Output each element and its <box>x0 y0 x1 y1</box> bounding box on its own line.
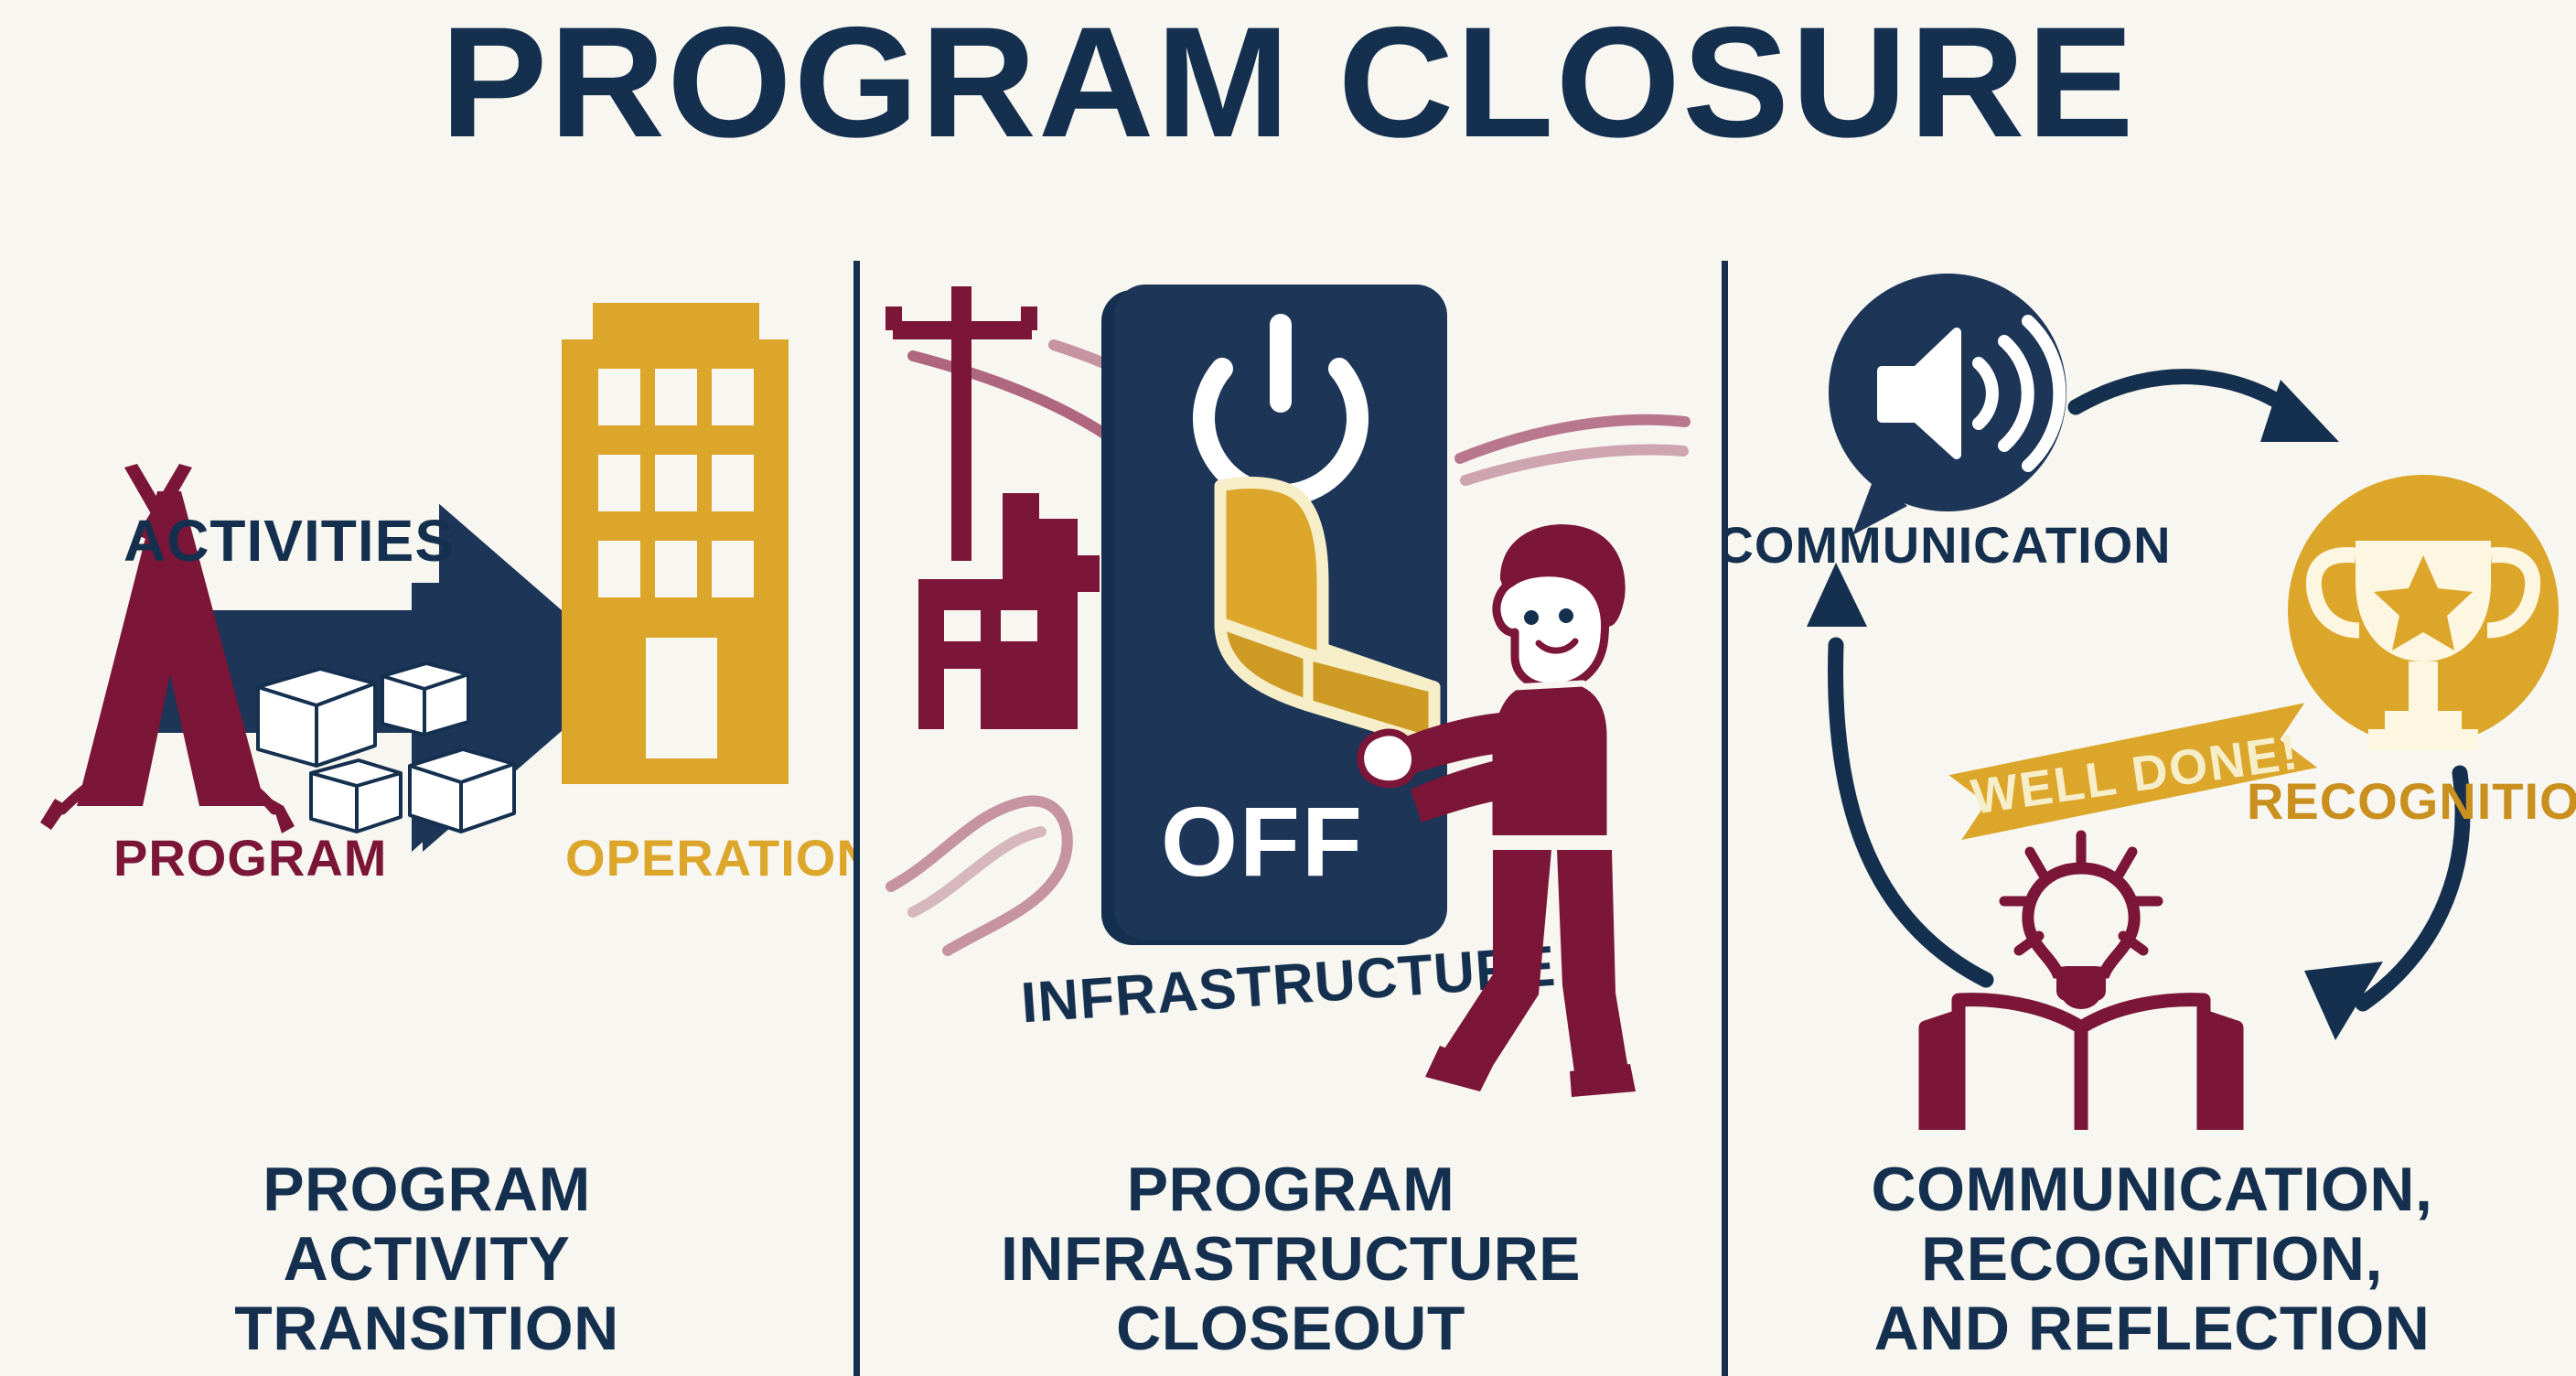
speaker-bubble-icon <box>1829 274 2066 535</box>
transition-diagram-art: ACTIVITIES PROGRAM OPERATIONS <box>0 261 853 1130</box>
panel-program-infrastructure-closeout: OFF INFRASTRUCTURE <box>860 261 1722 1376</box>
panel-communication-recognition-reflection: COMMUNICATION <box>1728 261 2576 1376</box>
panel-1-caption-line-3: TRANSITION <box>0 1294 853 1363</box>
switch-state-label: OFF <box>1161 786 1364 897</box>
arrow-communication-to-recognition <box>2076 377 2339 442</box>
trophy-icon <box>2288 475 2559 751</box>
open-book-icon <box>1926 1000 2237 1130</box>
panel-1-caption-line-1: PROGRAM <box>0 1155 853 1224</box>
panel-1-caption-line-2: ACTIVITY <box>0 1224 853 1294</box>
factory-icon <box>918 493 1100 729</box>
panel-program-activity-transition: ACTIVITIES PROGRAM OPERATIONS PROGRAM AC… <box>0 261 853 1376</box>
building-label: OPERATIONS <box>565 829 853 887</box>
reflection-node: REFLECTION <box>1913 835 2249 1130</box>
infographic-poster: PROGRAM CLOSURE <box>0 0 2576 1376</box>
panel-3-caption-line-3: AND REFLECTION <box>1728 1294 2576 1363</box>
recognition-label: RECOGNITION <box>2247 772 2576 830</box>
page-title: PROGRAM CLOSURE <box>0 4 2576 161</box>
power-switch-art: OFF INFRASTRUCTURE <box>860 261 1722 1130</box>
panel-2-caption-line-1: PROGRAM <box>860 1155 1722 1224</box>
communication-node: COMMUNICATION <box>1728 274 2172 574</box>
arrow-label: ACTIVITIES <box>123 508 455 574</box>
tent-label: PROGRAM <box>113 829 387 887</box>
arrow-reflection-to-communication <box>1807 563 1986 980</box>
panel-2-caption-line-2: INFRASTRUCTURE <box>860 1224 1722 1294</box>
panel-2-caption-line-3: CLOSEOUT <box>860 1294 1722 1363</box>
panel-3-caption: COMMUNICATION, RECOGNITION, AND REFLECTI… <box>1728 1155 2576 1363</box>
cycle-diagram-art: COMMUNICATION <box>1728 261 2576 1130</box>
communication-label: COMMUNICATION <box>1728 516 2172 574</box>
panel-divider-2 <box>1722 261 1728 1376</box>
panel-3-caption-line-2: RECOGNITION, <box>1728 1224 2576 1294</box>
panel-3-caption-line-1: COMMUNICATION, <box>1728 1155 2576 1224</box>
panel-divider-1 <box>853 261 860 1376</box>
panel-1-caption: PROGRAM ACTIVITY TRANSITION <box>0 1155 853 1363</box>
open-book-lightbulb-icon <box>2004 835 2158 1005</box>
office-building-icon <box>562 303 789 784</box>
panel-2-caption: PROGRAM INFRASTRUCTURE CLOSEOUT <box>860 1155 1722 1363</box>
